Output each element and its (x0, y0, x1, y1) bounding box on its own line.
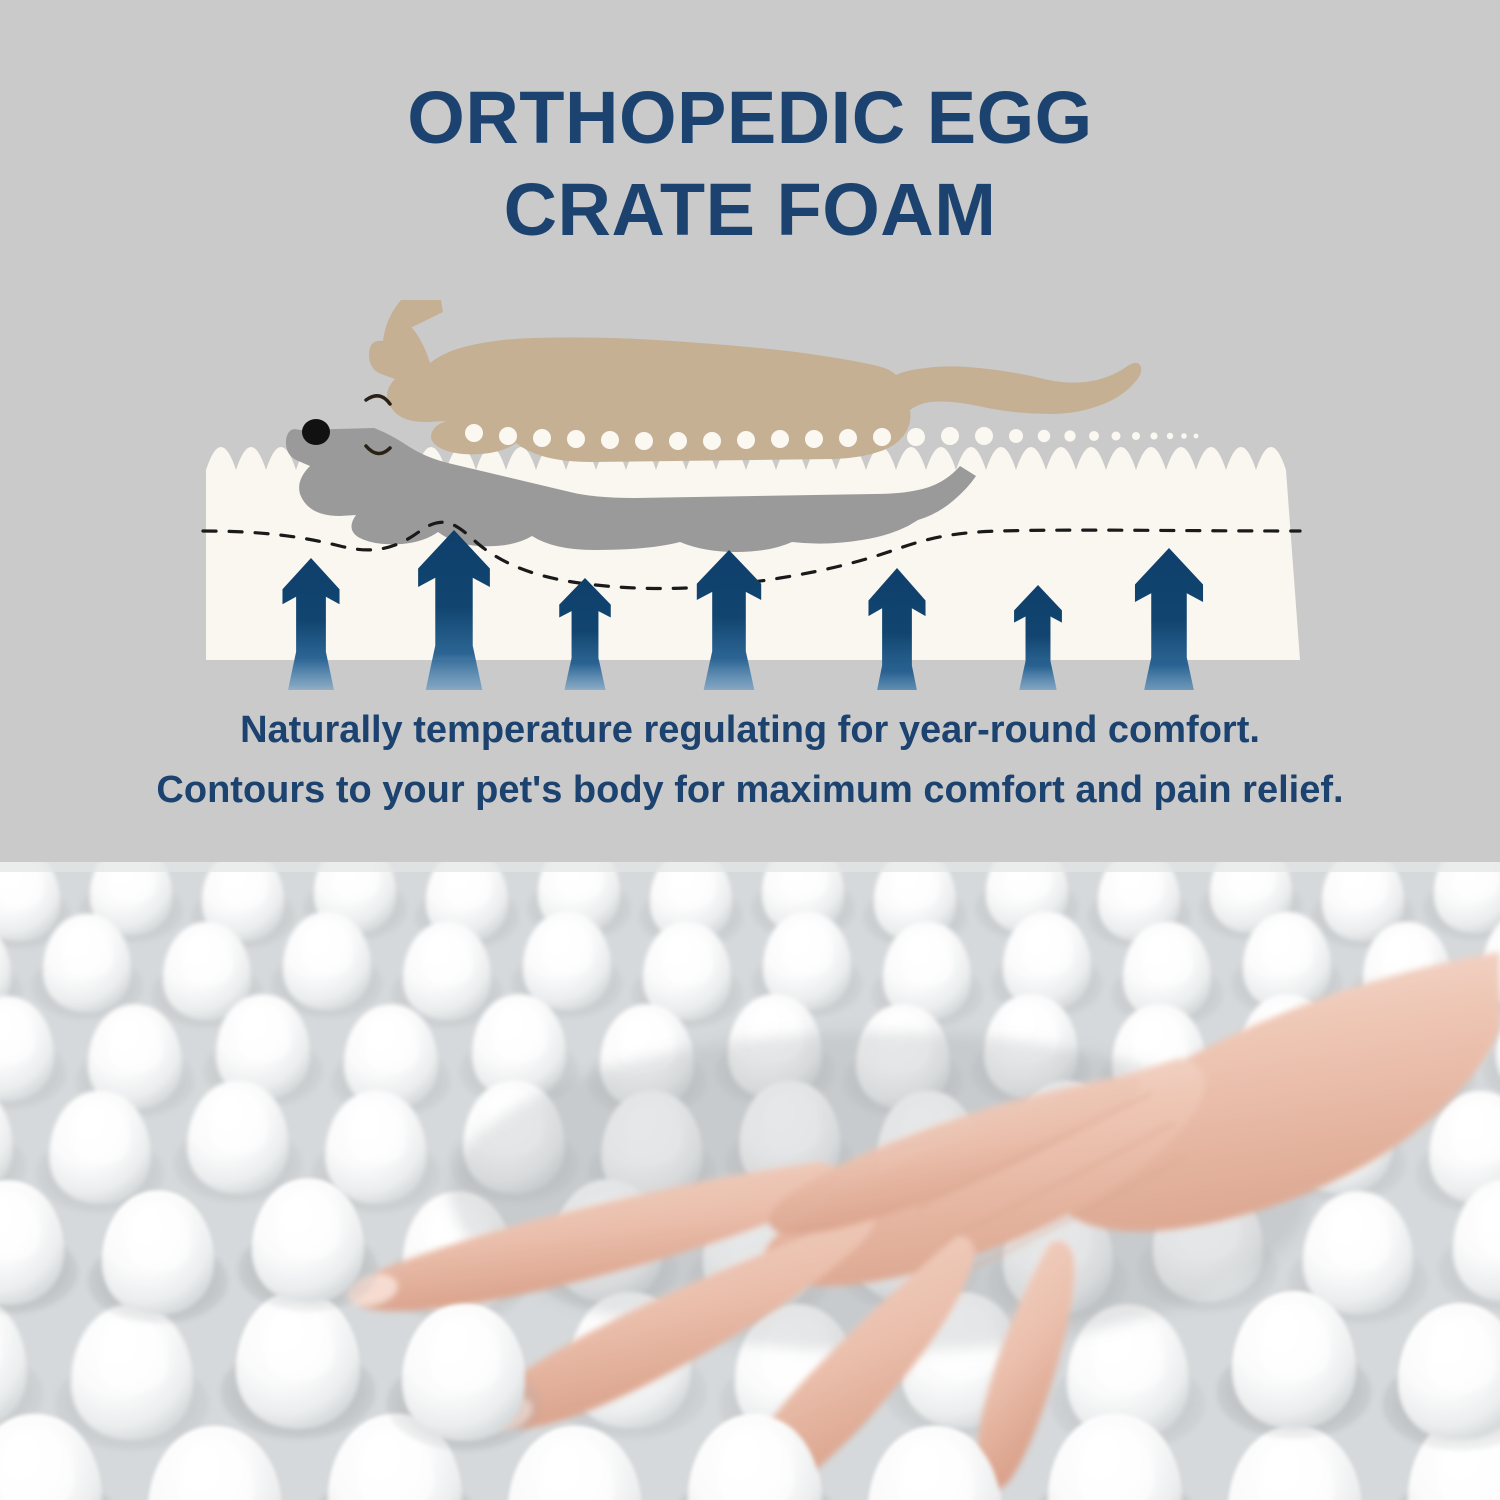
caption-line-2: Contours to your pet's body for maximum … (0, 760, 1500, 820)
caption-block: Naturally temperature regulating for yea… (0, 700, 1500, 820)
headline-line-2: CRATE FOAM (0, 164, 1500, 256)
foam-photo-panel (0, 862, 1500, 1500)
pet-on-foam-diagram (0, 300, 1500, 690)
headline-line-1: ORTHOPEDIC EGG (0, 72, 1500, 164)
product-infographic-page: ORTHOPEDIC EGG CRATE FOAM (0, 0, 1500, 1500)
infographic-top-panel: ORTHOPEDIC EGG CRATE FOAM (0, 0, 1500, 862)
dog-nose (302, 419, 330, 445)
dog-eye (366, 396, 390, 404)
hand-pressing-foam-photo (0, 862, 1500, 1500)
caption-line-1: Naturally temperature regulating for yea… (0, 700, 1500, 760)
dog-body (369, 300, 1141, 462)
page-title: ORTHOPEDIC EGG CRATE FOAM (0, 72, 1500, 256)
